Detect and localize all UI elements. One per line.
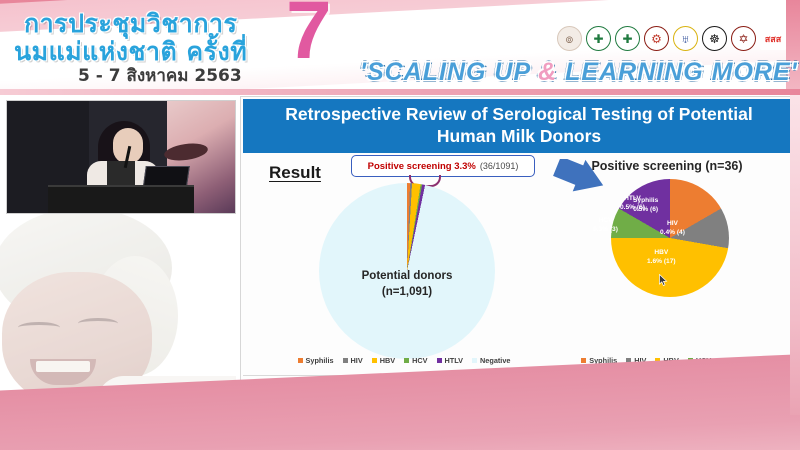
legend-item-htlv: HTLV (437, 356, 464, 365)
legend-label-hiv: HIV (351, 356, 363, 365)
potential-donors-pie-label: Potential donors (n=1,091) (319, 269, 495, 300)
conference-date: 5 - 7 สิงหาคม 2563 (78, 62, 242, 89)
health-department-glyph: ✚ (622, 32, 632, 46)
legend-swatch-hcv (404, 358, 409, 363)
legend-label-negative: Negative (480, 356, 510, 365)
podium (48, 185, 194, 213)
child-eye-left (18, 322, 60, 333)
banner-bottom-stripe (0, 89, 800, 95)
mahidol-university-logo: ☸ (702, 26, 727, 51)
royal-emblem-logo: ๏ (557, 26, 582, 51)
organizer-logos: ๏ ✚ ✚ ⚙ ♅ ☸ ✡ สสส (557, 26, 786, 51)
legend-item-syphilis: Syphilis (298, 356, 334, 365)
callout-highlight: Positive screening 3.3% (368, 161, 476, 172)
royal-emblem-glyph: ๏ (566, 28, 574, 49)
conference-speaker-video[interactable] (6, 100, 236, 214)
right-pink-edge (790, 95, 800, 415)
conference-tagline: 'SCALING UP & LEARNING MORE' (360, 58, 798, 87)
conference-header-banner: การประชุมวิชาการ นมแม่แห่งชาติ ครั้งที่ … (0, 0, 800, 95)
royal-college-glyph: ♅ (681, 32, 690, 46)
slice-label-hcv-name: HCV (593, 217, 618, 226)
slice-label-hbv: HBV 1.6% (17) (647, 249, 676, 266)
thaihealth-sso-glyph: สสส (765, 32, 781, 46)
mouse-cursor-icon (659, 274, 668, 286)
legend-swatch-syphilis (298, 358, 303, 363)
legend-label-hcv: HCV (412, 356, 427, 365)
thai-pediatric-society-glyph: ⚙ (651, 32, 662, 46)
positive-screening-callout: Positive screening 3.3% (36/1091) (351, 155, 535, 177)
potential-donors-pie-chart: Potential donors (n=1,091) (319, 183, 495, 359)
slice-label-htlv-value: 0.5% (6) (620, 204, 645, 213)
thaihealth-sso-logo: สสส (760, 27, 786, 50)
positive-screening-pie-title: Positive screening (n=36) (551, 159, 783, 173)
potential-donors-title: Potential donors (319, 269, 495, 285)
legend-label-syphilis: Syphilis (306, 356, 334, 365)
thai-breastfeeding-glyph: ✡ (738, 32, 748, 46)
presentation-screenshot: การประชุมวิชาการ นมแม่แห่งชาติ ครั้งที่ … (0, 0, 800, 450)
potential-donors-subtitle: (n=1,091) (319, 285, 495, 301)
thai-pediatric-society-logo: ⚙ (644, 26, 669, 51)
slice-label-hcv: HCV 0.3% (3) (593, 217, 618, 234)
legend-item-hbv: HBV (372, 356, 395, 365)
slice-label-hiv-value: 0.4% (4) (660, 229, 685, 238)
tagline-part2: LEARNING MORE' (557, 58, 797, 86)
mahidol-university-glyph: ☸ (709, 32, 720, 46)
slice-label-hcv-value: 0.3% (3) (593, 226, 618, 235)
slide-title-bar: Retrospective Review of Serological Test… (243, 99, 795, 153)
legend-label-hbv: HBV (380, 356, 395, 365)
conference-edition-number: 7 (286, 0, 332, 72)
slice-label-htlv: HTLV 0.5% (6) (620, 195, 645, 212)
legend-item-hcv: HCV (404, 356, 427, 365)
slice-label-hiv: HIV 0.4% (4) (660, 220, 685, 237)
legend-label-htlv: HTLV (445, 356, 464, 365)
tagline-part1: 'SCALING UP (360, 58, 538, 86)
result-label: Result (269, 163, 321, 183)
tagline-ampersand: & (538, 58, 557, 86)
legend-swatch-htlv (437, 358, 442, 363)
legend-swatch-hbv (372, 358, 377, 363)
royal-college-logo: ♅ (673, 26, 698, 51)
potential-donors-legend: Syphilis HIV HBV HCV HTLV Negative (279, 356, 529, 365)
legend2-swatch-syphilis (581, 358, 586, 363)
slice-label-hiv-name: HIV (660, 220, 685, 229)
child-eye-right (78, 318, 118, 329)
slice-label-htlv-name: HTLV (620, 195, 645, 204)
legend-item-hiv: HIV (343, 356, 363, 365)
legend-swatch-hiv (343, 358, 348, 363)
slide-title-text: Retrospective Review of Serological Test… (243, 104, 795, 148)
slice-label-hbv-value: 1.6% (17) (647, 258, 676, 267)
callout-detail: (36/1091) (480, 161, 519, 171)
child-teeth (36, 361, 90, 372)
ministry-public-health-logo: ✚ (586, 26, 611, 51)
ministry-public-health-glyph: ✚ (593, 32, 603, 46)
health-department-logo: ✚ (615, 26, 640, 51)
thai-breastfeeding-logo: ✡ (731, 26, 756, 51)
slice-label-hbv-name: HBV (647, 249, 676, 258)
legend-swatch-negative (472, 358, 477, 363)
legend-item-negative: Negative (472, 356, 510, 365)
